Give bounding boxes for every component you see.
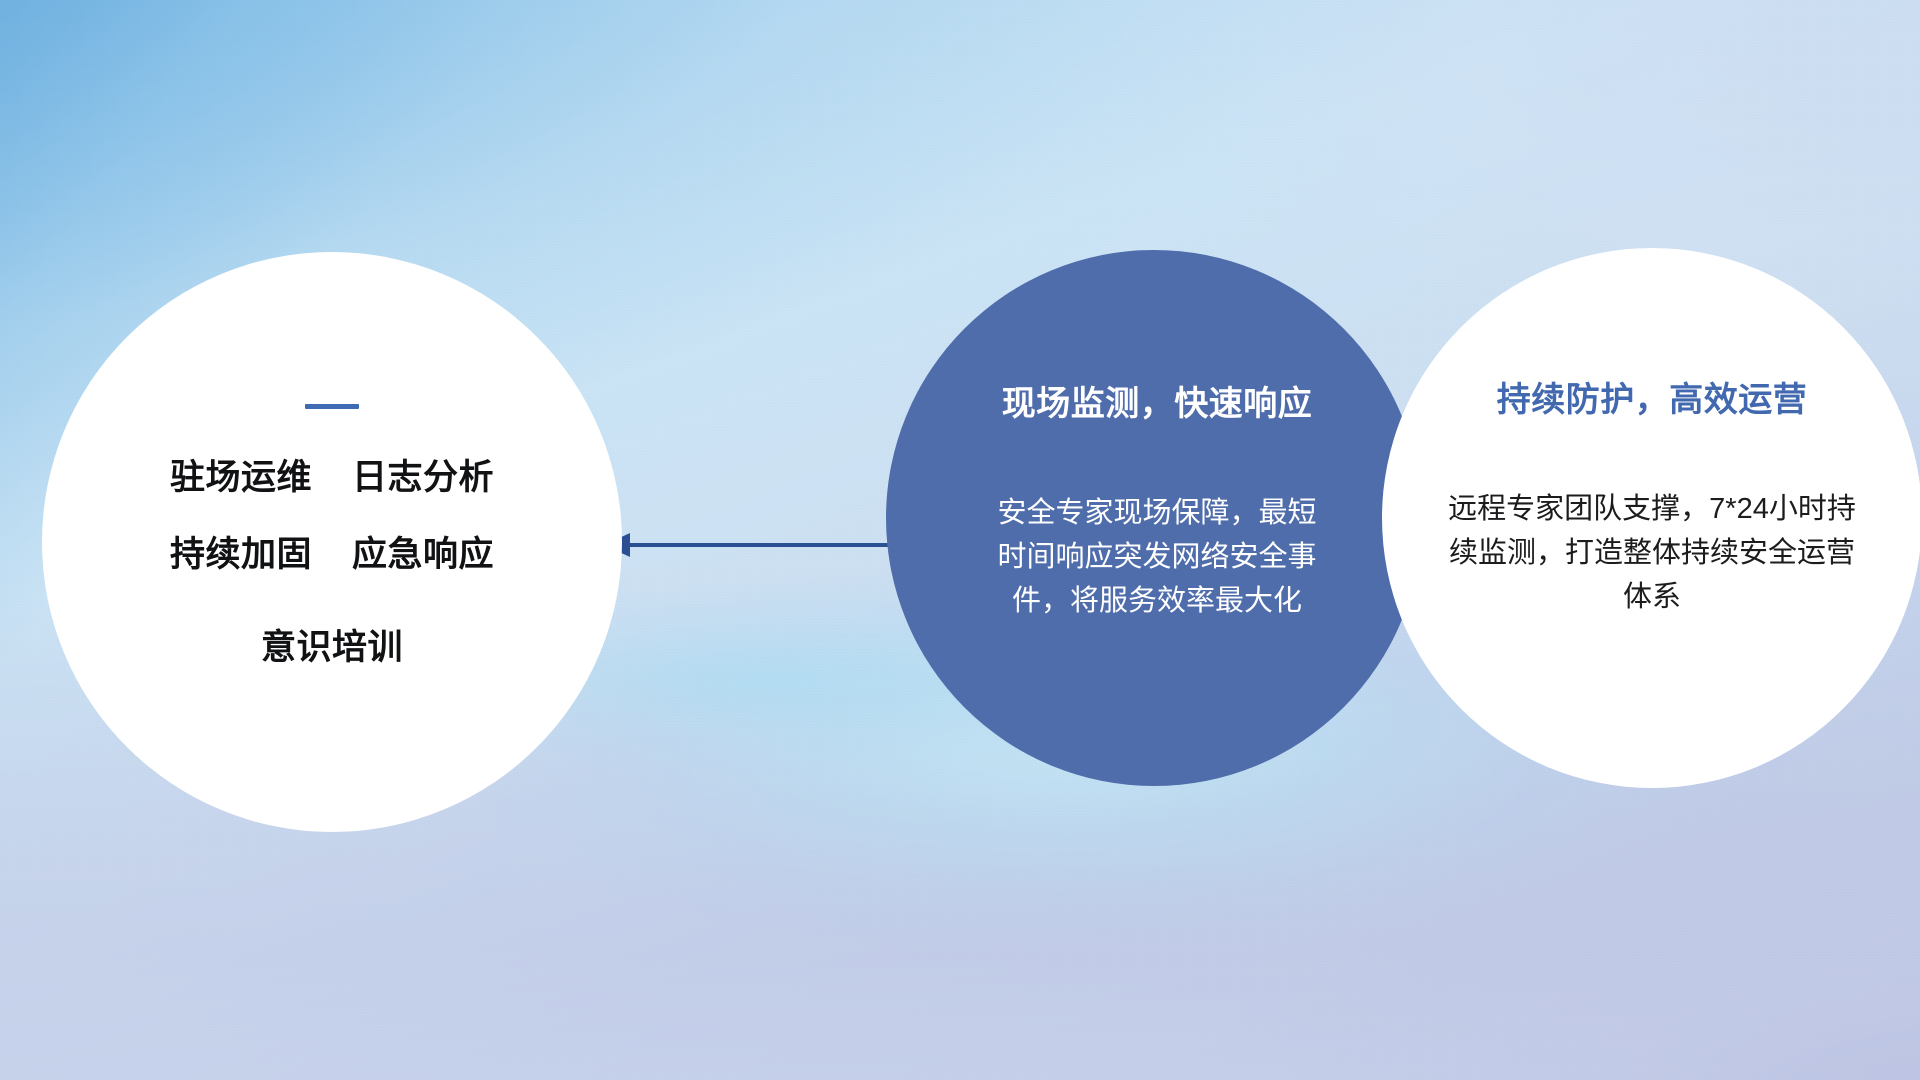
keyword-item: 驻场运维 [170, 449, 312, 500]
keyword-row: 驻场运维 日志分析 [170, 449, 494, 500]
right-circle-body: 远程专家团队支撑，7*24小时持续监测，打造整体持续安全运营体系 [1442, 487, 1862, 619]
middle-circle-body: 安全专家现场保障，最短时间响应突发网络安全事件，将服务效率最大化 [992, 491, 1322, 623]
right-circle-title: 持续防护，高效运营 [1418, 372, 1886, 421]
keyword-item: 日志分析 [352, 449, 494, 500]
right-circle-content: 持续防护，高效运营 远程专家团队支撑，7*24小时持续监测，打造整体持续安全运营… [1382, 248, 1920, 788]
keyword-item: 持续加固 [170, 526, 312, 577]
keyword-row: 持续加固 应急响应 [170, 526, 494, 577]
keyword-row: 意识培训 [261, 619, 403, 670]
connector-arrow [600, 520, 900, 570]
slide-canvas: 驻场运维 日志分析 持续加固 应急响应 意识培训 现场监测，快速响应 安全专家现… [0, 0, 1920, 1080]
keyword-item: 意识培训 [261, 619, 403, 670]
middle-circle-content: 现场监测，快速响应 安全专家现场保障，最短时间响应突发网络安全事件，将服务效率最… [886, 250, 1422, 786]
keyword-item: 应急响应 [352, 526, 494, 577]
left-keyword-list: 驻场运维 日志分析 持续加固 应急响应 意识培训 [170, 449, 494, 670]
left-circle-content: 驻场运维 日志分析 持续加固 应急响应 意识培训 [42, 252, 622, 832]
accent-dash-icon [305, 404, 359, 409]
middle-circle-title: 现场监测，快速响应 [948, 376, 1366, 425]
